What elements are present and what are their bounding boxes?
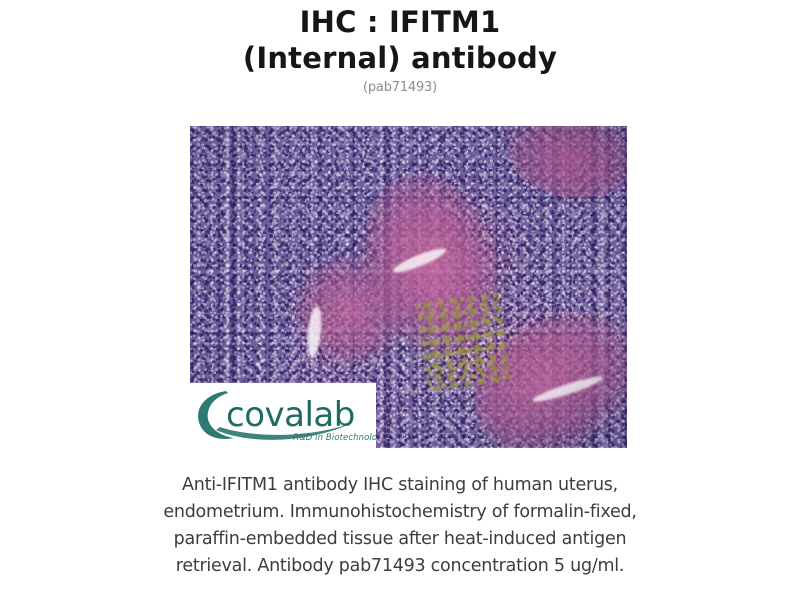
- figure-caption: Anti-IFITM1 antibody IHC staining of hum…: [100, 472, 700, 580]
- page-header: IHC : IFITM1 (Internal) antibody (pab714…: [0, 4, 800, 98]
- covalab-tagline: R&D in Biotechnology: [293, 433, 376, 443]
- covalab-wordmark: covalab: [226, 395, 355, 435]
- caption-line: Anti-IFITM1 antibody IHC staining of hum…: [100, 472, 700, 499]
- caption-line: endometrium. Immunohistochemistry of for…: [100, 499, 700, 526]
- ihc-micrograph-figure: covalab R&D in Biotechnology: [190, 126, 627, 448]
- dab-positive-stain-region: [416, 291, 511, 392]
- catalog-number: (pab71493): [0, 78, 800, 98]
- caption-line: retrieval. Antibody pab71493 concentrati…: [100, 553, 700, 580]
- product-image-page: IHC : IFITM1 (Internal) antibody (pab714…: [0, 0, 800, 600]
- caption-line: paraffin-embedded tissue after heat-indu…: [100, 526, 700, 553]
- covalab-logo: covalab R&D in Biotechnology: [190, 383, 376, 448]
- page-title-line-1: IHC : IFITM1: [0, 4, 800, 40]
- page-title-line-2: (Internal) antibody: [0, 40, 800, 76]
- covalab-logo-svg: covalab R&D in Biotechnology: [190, 383, 376, 448]
